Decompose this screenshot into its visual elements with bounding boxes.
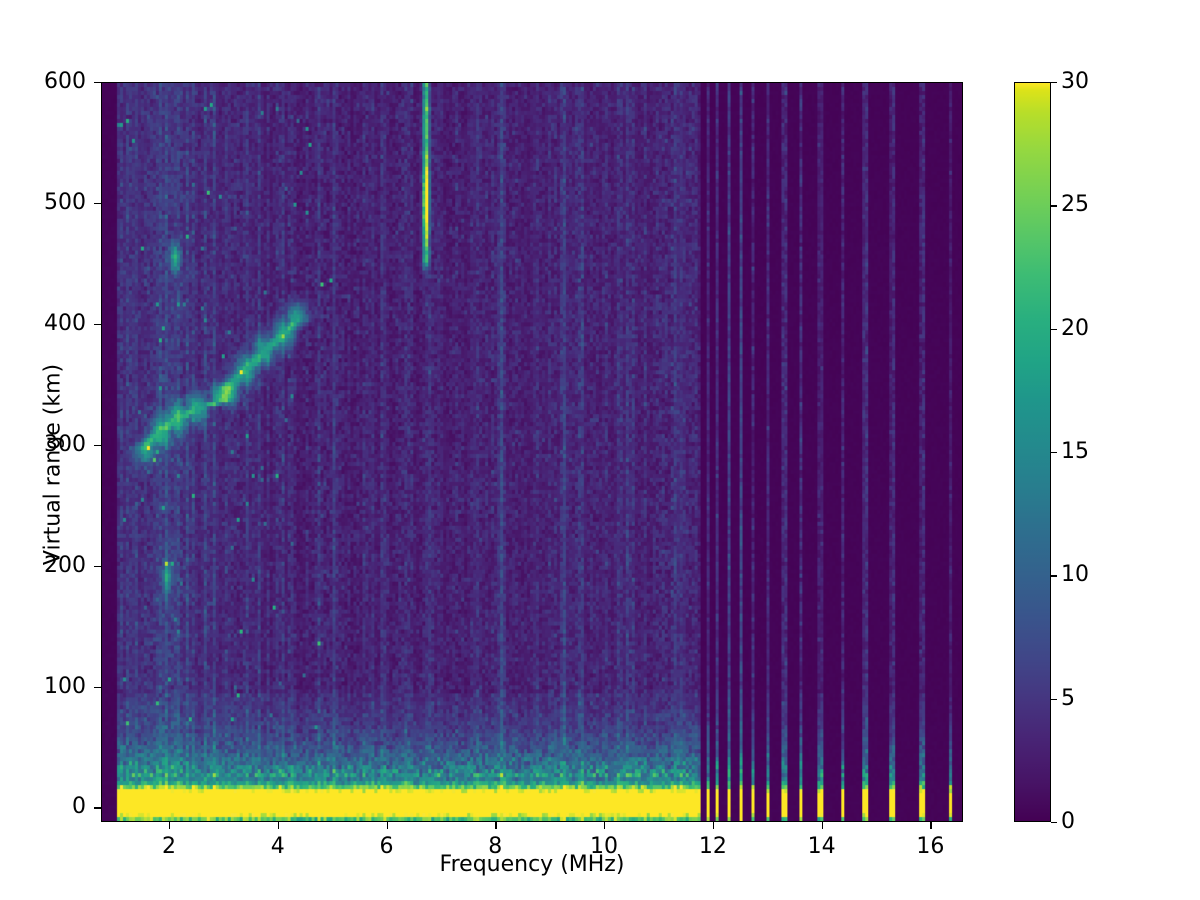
x-tick-mark xyxy=(604,822,605,829)
x-tick-mark xyxy=(495,822,496,829)
colorbar-tick-mark xyxy=(1051,329,1057,330)
colorbar-tick-mark xyxy=(1051,82,1057,83)
y-tick-mark xyxy=(94,445,101,446)
y-tick-mark xyxy=(94,687,101,688)
colorbar-tick-label: 25 xyxy=(1061,194,1089,216)
x-axis-label: Frequency (MHz) xyxy=(101,852,963,877)
ionogram-heatmap-canvas xyxy=(102,83,962,821)
x-tick-mark xyxy=(822,822,823,829)
colorbar-tick-mark xyxy=(1051,822,1057,823)
colorbar-tick-label: 10 xyxy=(1061,564,1089,586)
ionogram-figure: IRF Uppsala SDR Ionosonde UP158 2025-10-… xyxy=(0,0,1200,900)
y-tick-mark xyxy=(94,566,101,567)
ionogram-plot-area[interactable] xyxy=(101,82,963,822)
colorbar-tick-label: 20 xyxy=(1061,318,1089,340)
colorbar-tick-label: 5 xyxy=(1061,688,1075,710)
colorbar-tick-mark xyxy=(1051,699,1057,700)
y-tick-mark xyxy=(94,807,101,808)
colorbar-tick-mark xyxy=(1051,575,1057,576)
y-axis-label: Virtual range (km) xyxy=(41,300,66,630)
x-tick-mark xyxy=(387,822,388,829)
x-tick-mark xyxy=(169,822,170,829)
colorbar-gradient xyxy=(1014,82,1051,822)
x-tick-mark xyxy=(278,822,279,829)
y-tick-label: 0 xyxy=(6,796,86,818)
y-tick-label: 100 xyxy=(6,676,86,698)
colorbar-tick-mark xyxy=(1051,205,1057,206)
colorbar-tick-label: 0 xyxy=(1061,811,1075,833)
colorbar[interactable]: 051015202530 xyxy=(1014,82,1051,822)
colorbar-tick-label: 30 xyxy=(1061,71,1089,93)
x-tick-mark xyxy=(930,822,931,829)
colorbar-tick-label: 15 xyxy=(1061,441,1089,463)
x-tick-mark xyxy=(713,822,714,829)
y-tick-mark xyxy=(94,324,101,325)
colorbar-tick-mark xyxy=(1051,452,1057,453)
